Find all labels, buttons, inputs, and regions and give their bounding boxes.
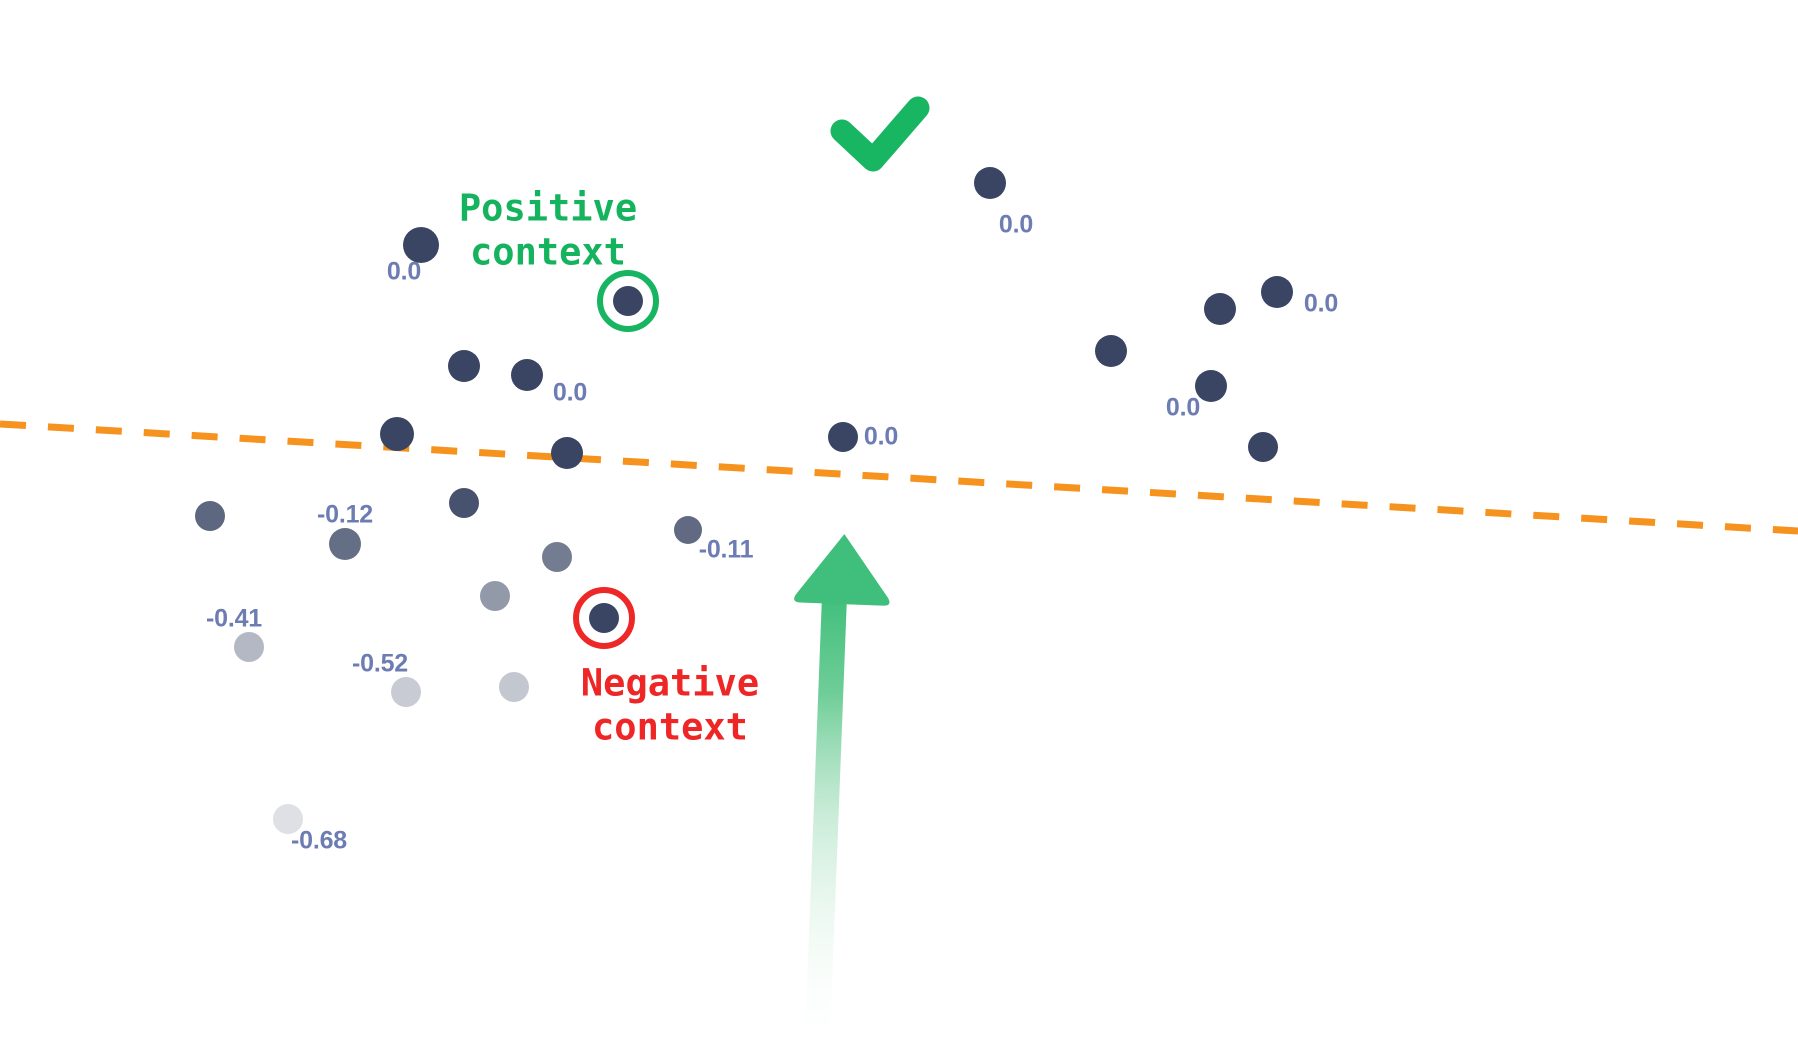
point-value-label: 0.0 xyxy=(1166,394,1200,423)
vector-layer xyxy=(0,0,1798,1056)
scatter-point[interactable] xyxy=(551,437,583,469)
scatter-point[interactable] xyxy=(828,422,858,452)
diagram-canvas: 0.00.0-0.12-0.11-0.41-0.52-0.680.00.00.0… xyxy=(0,0,1798,1056)
point-value-label: -0.52 xyxy=(352,650,408,679)
scatter-point[interactable] xyxy=(391,677,421,707)
scatter-point[interactable] xyxy=(499,672,529,702)
point-value-label: -0.12 xyxy=(317,501,373,530)
point-value-label: -0.41 xyxy=(206,605,262,634)
scatter-point[interactable] xyxy=(380,417,414,451)
point-value-label: 0.0 xyxy=(387,258,421,287)
scatter-point[interactable] xyxy=(511,359,543,391)
scatter-point[interactable] xyxy=(1248,432,1278,462)
point-value-label: -0.11 xyxy=(699,536,754,565)
scatter-point[interactable] xyxy=(1204,293,1236,325)
scatter-point[interactable] xyxy=(1095,335,1127,367)
check-icon xyxy=(842,108,918,160)
scatter-point[interactable] xyxy=(448,350,480,382)
scatter-point[interactable] xyxy=(1261,276,1293,308)
scatter-point[interactable] xyxy=(613,286,643,316)
scatter-point[interactable] xyxy=(195,501,225,531)
scatter-point[interactable] xyxy=(329,528,361,560)
scatter-point[interactable] xyxy=(480,581,510,611)
decision-boundary-line xyxy=(0,424,1798,531)
point-value-label: 0.0 xyxy=(1304,290,1338,319)
scatter-point[interactable] xyxy=(234,632,264,662)
scatter-point[interactable] xyxy=(449,488,479,518)
negative-context-label: Negative context xyxy=(581,661,759,748)
point-value-label: 0.0 xyxy=(999,211,1033,240)
up-arrow-icon xyxy=(777,532,892,1056)
scatter-point[interactable] xyxy=(974,167,1006,199)
scatter-point[interactable] xyxy=(589,603,619,633)
scatter-point[interactable] xyxy=(542,542,572,572)
point-value-label: 0.0 xyxy=(553,379,587,408)
point-value-label: -0.68 xyxy=(291,827,347,856)
point-value-label: 0.0 xyxy=(864,423,898,452)
positive-context-label: Positive context xyxy=(459,186,637,273)
